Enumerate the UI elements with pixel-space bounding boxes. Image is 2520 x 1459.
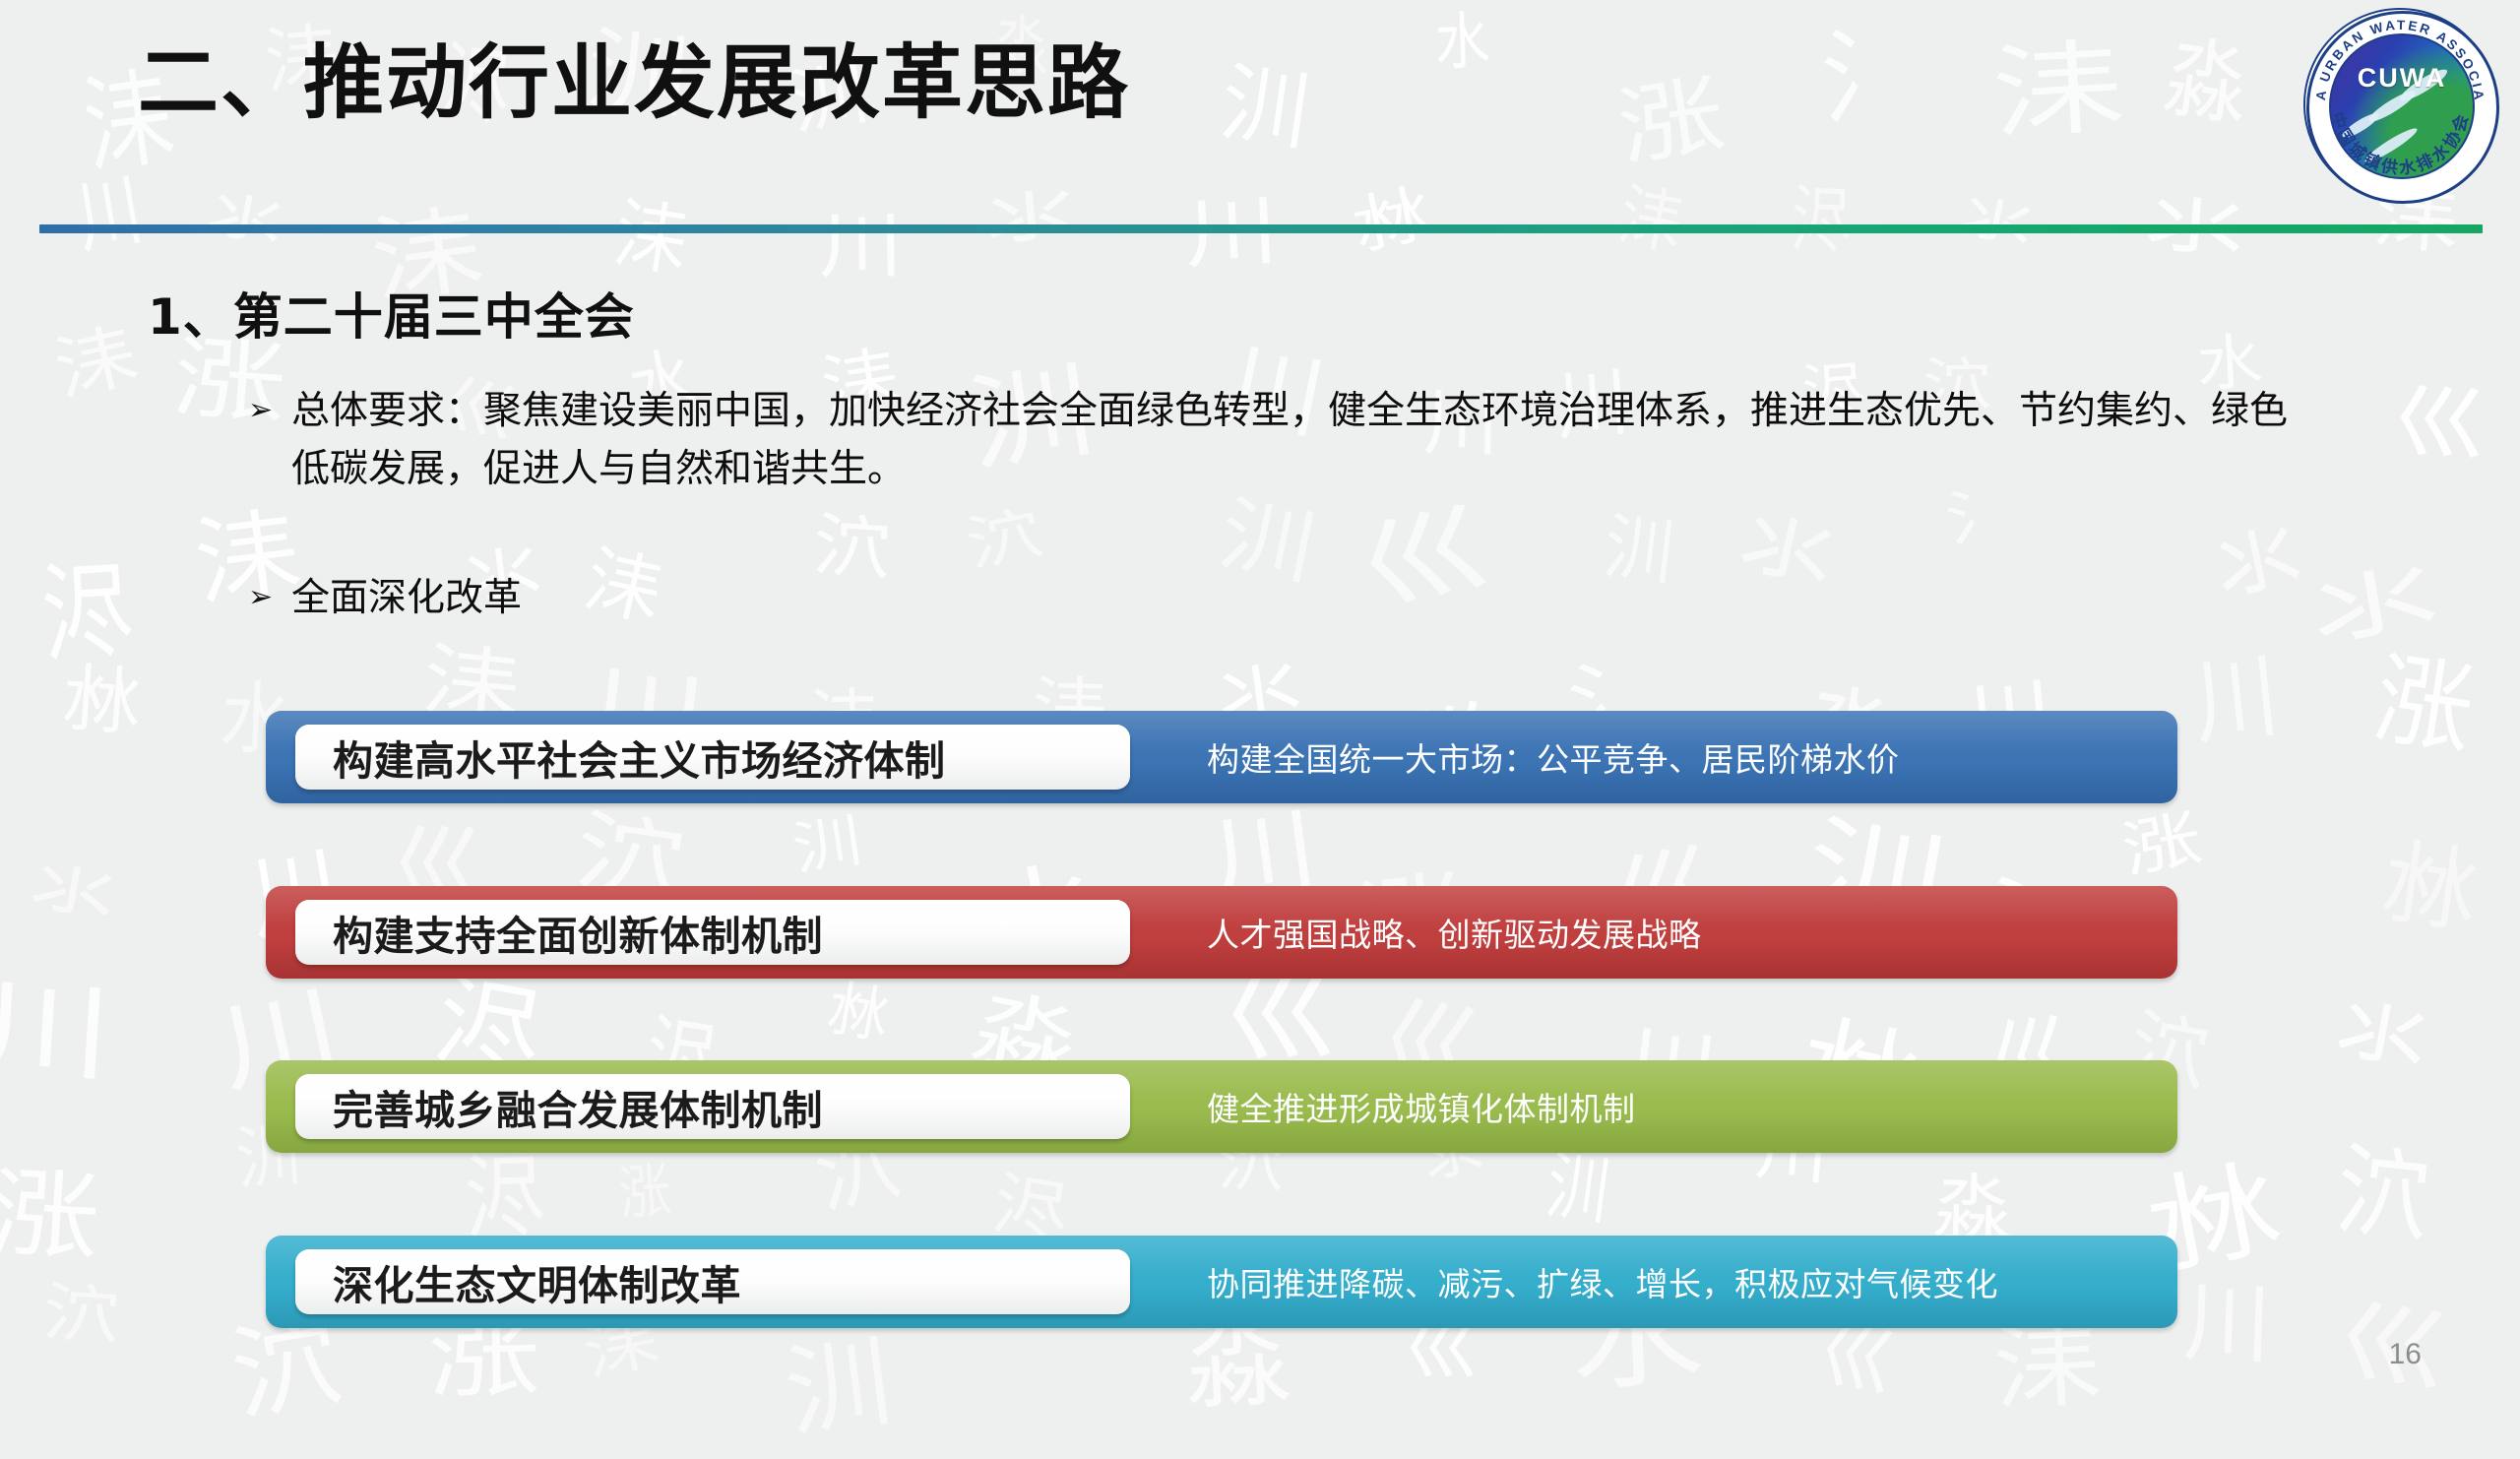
- reform-bar-label: 构建支持全面创新体制机制: [333, 903, 823, 962]
- bullet-arrow-icon: ➢: [248, 569, 291, 625]
- reform-bar: 构建支持全面创新体制机制 人才强国战略、创新驱动发展战略: [266, 886, 2177, 979]
- reform-bar-pill: 构建高水平社会主义市场经济体制: [295, 725, 1130, 790]
- bullet-text: 全面深化改革: [291, 569, 522, 627]
- section-heading: 1、第二十届三中全会: [148, 278, 635, 349]
- svg-text:CHINA URBAN WATER ASSOCIATION: CHINA URBAN WATER ASSOCIATION: [2303, 8, 2487, 101]
- reform-bar: 构建高水平社会主义市场经济体制 构建全国统一大市场：公平竞争、居民阶梯水价: [266, 711, 2177, 803]
- svg-text:中国城镇供水排水协会: 中国城镇供水排水协会: [2326, 109, 2474, 178]
- bullet-item: ➢ 全面深化改革: [248, 569, 1134, 627]
- slide-canvas: 二、推动行业发展改革思路 CUWA CHINA URBAN WATER ASSO…: [0, 0, 2520, 1418]
- reform-bar-description: 协同推进降碳、减污、扩绿、增长，积极应对气候变化: [1207, 1258, 1998, 1305]
- bullet-item: ➢ 总体要求：聚焦建设美丽中国，加快经济社会全面绿色转型，健全生态环境治理体系，…: [248, 382, 2335, 499]
- bullet-arrow-icon: ➢: [248, 382, 291, 438]
- page-title: 二、推动行业发展改革思路: [138, 41, 1130, 126]
- reform-bar-pill: 完善城乡融合发展体制机制: [295, 1074, 1130, 1139]
- reform-bar-description: 构建全国统一大市场：公平竞争、居民阶梯水价: [1207, 733, 1900, 781]
- reform-bar-label: 构建高水平社会主义市场经济体制: [333, 728, 946, 787]
- bullet-text: 总体要求：聚焦建设美丽中国，加快经济社会全面绿色转型，健全生态环境治理体系，推进…: [291, 382, 2319, 499]
- cuwa-logo: CUWA CHINA URBAN WATER ASSOCIATION 中国城镇供…: [2303, 8, 2496, 201]
- reform-bar-pill: 构建支持全面创新体制机制: [295, 900, 1130, 965]
- reform-bar-label: 完善城乡融合发展体制机制: [333, 1077, 823, 1136]
- reform-bar-pill: 深化生态文明体制改革: [295, 1249, 1130, 1314]
- reform-bar: 深化生态文明体制改革 协同推进降碳、减污、扩绿、增长，积极应对气候变化: [266, 1236, 2177, 1328]
- reform-bar-description: 人才强国战略、创新驱动发展战略: [1207, 909, 1702, 956]
- reform-bar: 完善城乡融合发展体制机制 健全推进形成城镇化体制机制: [266, 1060, 2177, 1153]
- reform-bar-description: 健全推进形成城镇化体制机制: [1207, 1083, 1636, 1130]
- page-number: 16: [2389, 1338, 2422, 1371]
- logo-arc-text: CHINA URBAN WATER ASSOCIATION 中国城镇供水排水协会: [2303, 8, 2496, 201]
- header-divider: [39, 224, 2483, 233]
- reform-bar-label: 深化生态文明体制改革: [333, 1252, 741, 1311]
